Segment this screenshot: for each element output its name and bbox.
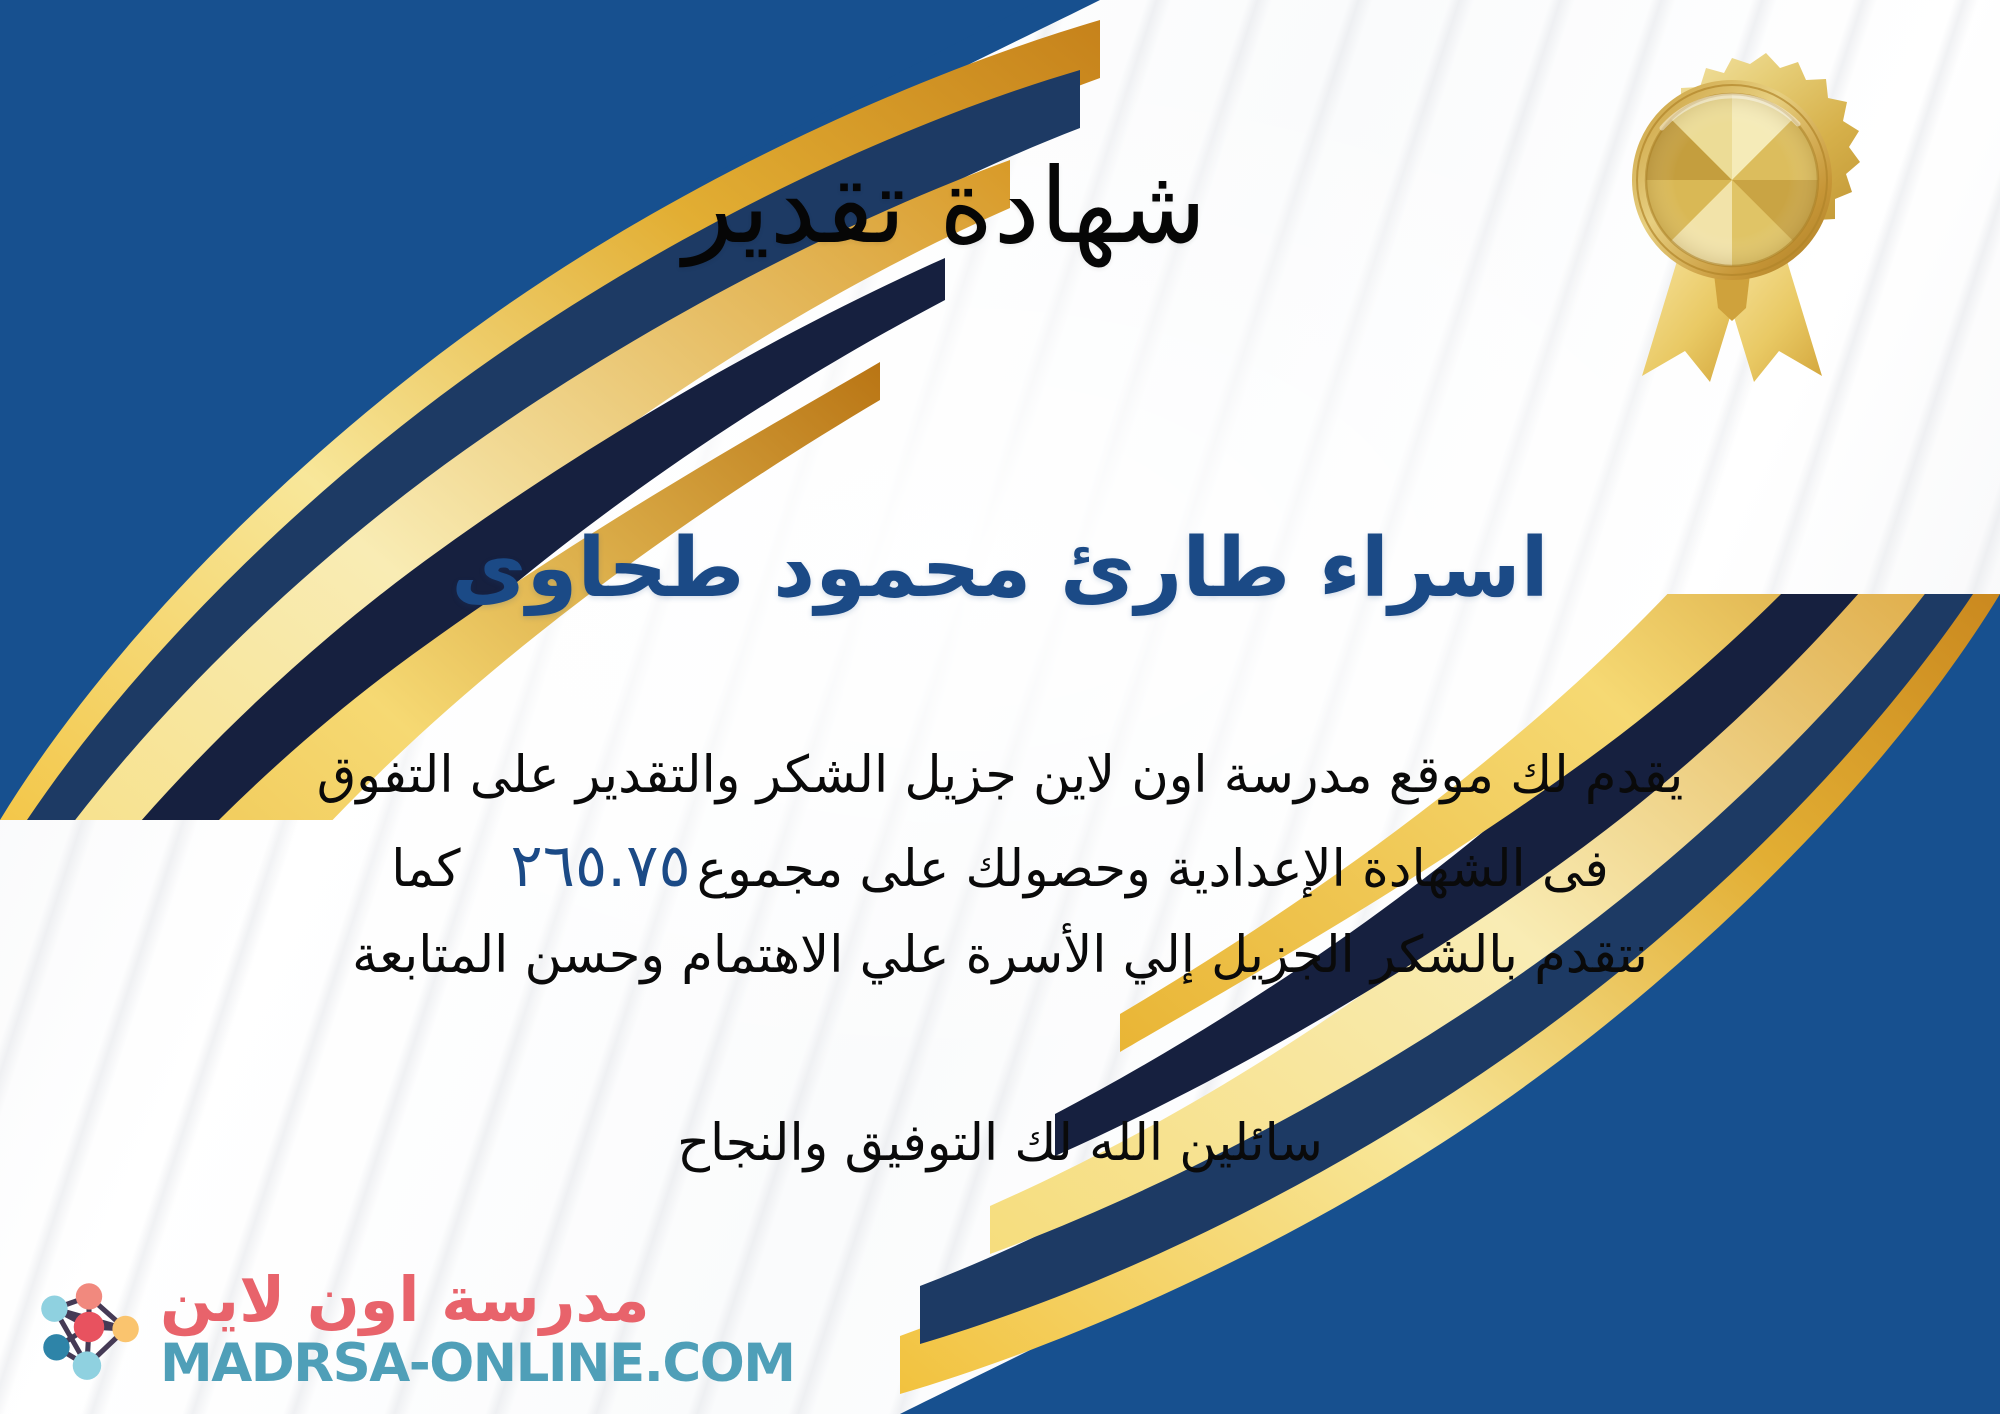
body-line-2: فى الشهادة الإعدادية وحصولك على مجموع٢٦٥… xyxy=(60,818,1940,915)
brand-logo[interactable]: مدرسة اون لاين MADRSA-ONLINE.COM xyxy=(28,1268,795,1390)
certificate-body: يقدم لك موقع مدرسة اون لاين جزيل الشكر و… xyxy=(60,735,1940,997)
brand-website: MADRSA-ONLINE.COM xyxy=(160,1337,795,1390)
score-value: ٢٦٥.٧٥ xyxy=(505,831,697,901)
certificate-canvas: شهادة تقدير اسراء طارئ محمود طحاوى يقدم … xyxy=(0,0,2000,1414)
network-graph-icon xyxy=(28,1268,150,1390)
gold-award-medal-icon xyxy=(1582,46,1882,386)
recipient-name: اسراء طارئ محمود طحاوى xyxy=(0,520,2000,618)
body-line-2-tail: كما xyxy=(391,840,460,899)
body-line-3: نتقدم بالشكر الجزيل إلي الأسرة علي الاهت… xyxy=(60,915,1940,998)
body-line-2-text: فى الشهادة الإعدادية وحصولك على مجموع xyxy=(697,840,1609,899)
closing-line: سائلين الله لك التوفيق والنجاح xyxy=(0,1108,2000,1179)
brand-text-block: مدرسة اون لاين MADRSA-ONLINE.COM xyxy=(160,1269,795,1390)
body-line-1: يقدم لك موقع مدرسة اون لاين جزيل الشكر و… xyxy=(60,735,1940,818)
brand-arabic-name: مدرسة اون لاين xyxy=(160,1269,650,1331)
